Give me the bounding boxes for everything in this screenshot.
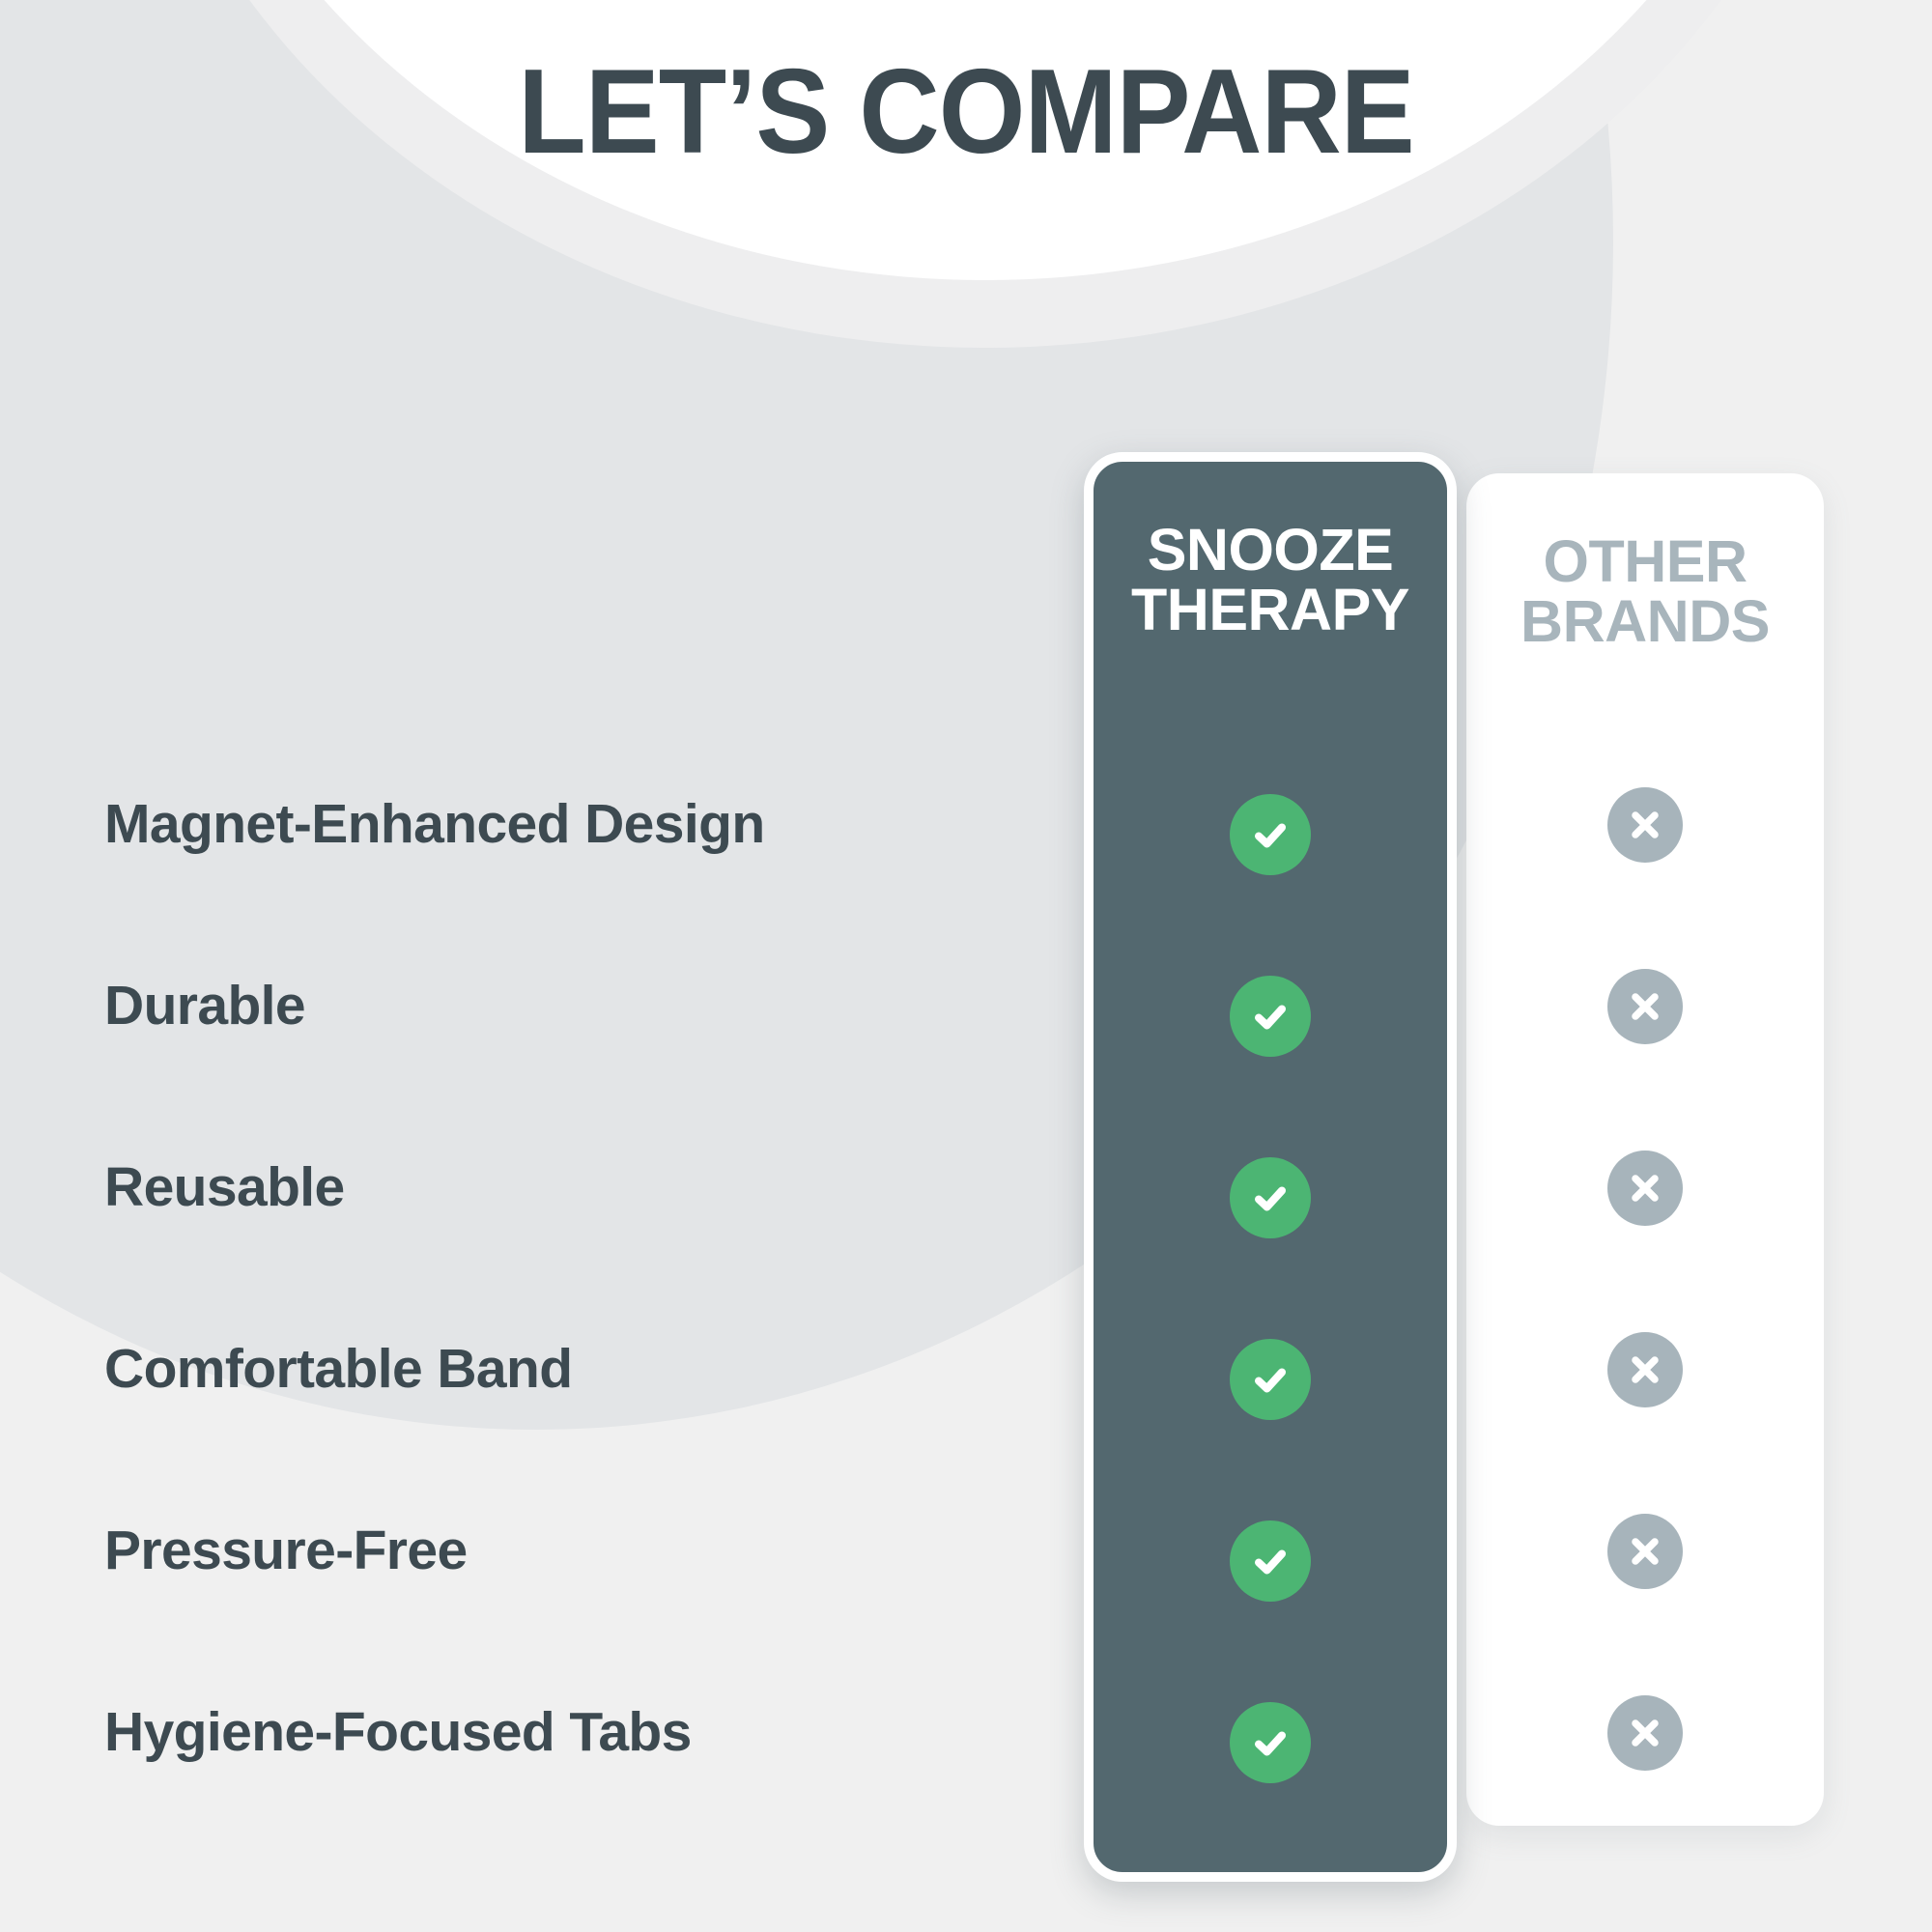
feature-label-list: Magnet-Enhanced Design Durable Reusable … bbox=[104, 734, 819, 1824]
feature-row: Durable bbox=[104, 916, 819, 1097]
comparison-cell bbox=[1466, 1279, 1824, 1461]
comparison-cell bbox=[1466, 1642, 1824, 1824]
other-brands-column: OTHER BRANDS bbox=[1466, 473, 1824, 1826]
comparison-cell bbox=[1094, 925, 1447, 1107]
other-brands-heading: OTHER BRANDS bbox=[1466, 531, 1824, 651]
comparison-cell bbox=[1094, 1107, 1447, 1289]
snooze-therapy-cells bbox=[1094, 744, 1447, 1833]
feature-label: Hygiene-Focused Tabs bbox=[104, 1704, 692, 1762]
feature-row: Comfortable Band bbox=[104, 1279, 819, 1461]
check-icon bbox=[1230, 1702, 1311, 1783]
snooze-therapy-heading: SNOOZE THERAPY bbox=[1094, 520, 1447, 639]
comparison-graphic: LET’S COMPARE Magnet-Enhanced Design Dur… bbox=[0, 0, 1932, 1932]
feature-row: Magnet-Enhanced Design bbox=[104, 734, 819, 916]
comparison-cell bbox=[1094, 1289, 1447, 1470]
comparison-cell bbox=[1094, 1652, 1447, 1833]
check-icon bbox=[1230, 976, 1311, 1057]
other-brands-cells bbox=[1466, 734, 1824, 1824]
feature-row: Hygiene-Focused Tabs bbox=[104, 1642, 819, 1824]
comparison-cell bbox=[1466, 1461, 1824, 1642]
cross-icon bbox=[1607, 1695, 1683, 1771]
feature-label: Pressure-Free bbox=[104, 1522, 468, 1580]
feature-label: Durable bbox=[104, 978, 305, 1036]
comparison-cell bbox=[1094, 744, 1447, 925]
cross-icon bbox=[1607, 1514, 1683, 1589]
check-icon bbox=[1230, 1520, 1311, 1602]
snooze-therapy-column: SNOOZE THERAPY bbox=[1084, 452, 1457, 1882]
comparison-cell bbox=[1466, 916, 1824, 1097]
cross-icon bbox=[1607, 969, 1683, 1044]
feature-row: Pressure-Free bbox=[104, 1461, 819, 1642]
check-icon bbox=[1230, 794, 1311, 875]
page-title: LET’S COMPARE bbox=[68, 46, 1864, 178]
comparison-cell bbox=[1094, 1470, 1447, 1652]
check-icon bbox=[1230, 1339, 1311, 1420]
feature-label: Magnet-Enhanced Design bbox=[104, 796, 765, 854]
cross-icon bbox=[1607, 787, 1683, 863]
comparison-cell bbox=[1466, 734, 1824, 916]
feature-label: Reusable bbox=[104, 1159, 345, 1217]
comparison-cell bbox=[1466, 1097, 1824, 1279]
feature-label: Comfortable Band bbox=[104, 1341, 572, 1399]
cross-icon bbox=[1607, 1332, 1683, 1407]
feature-row: Reusable bbox=[104, 1097, 819, 1279]
check-icon bbox=[1230, 1157, 1311, 1238]
cross-icon bbox=[1607, 1151, 1683, 1226]
